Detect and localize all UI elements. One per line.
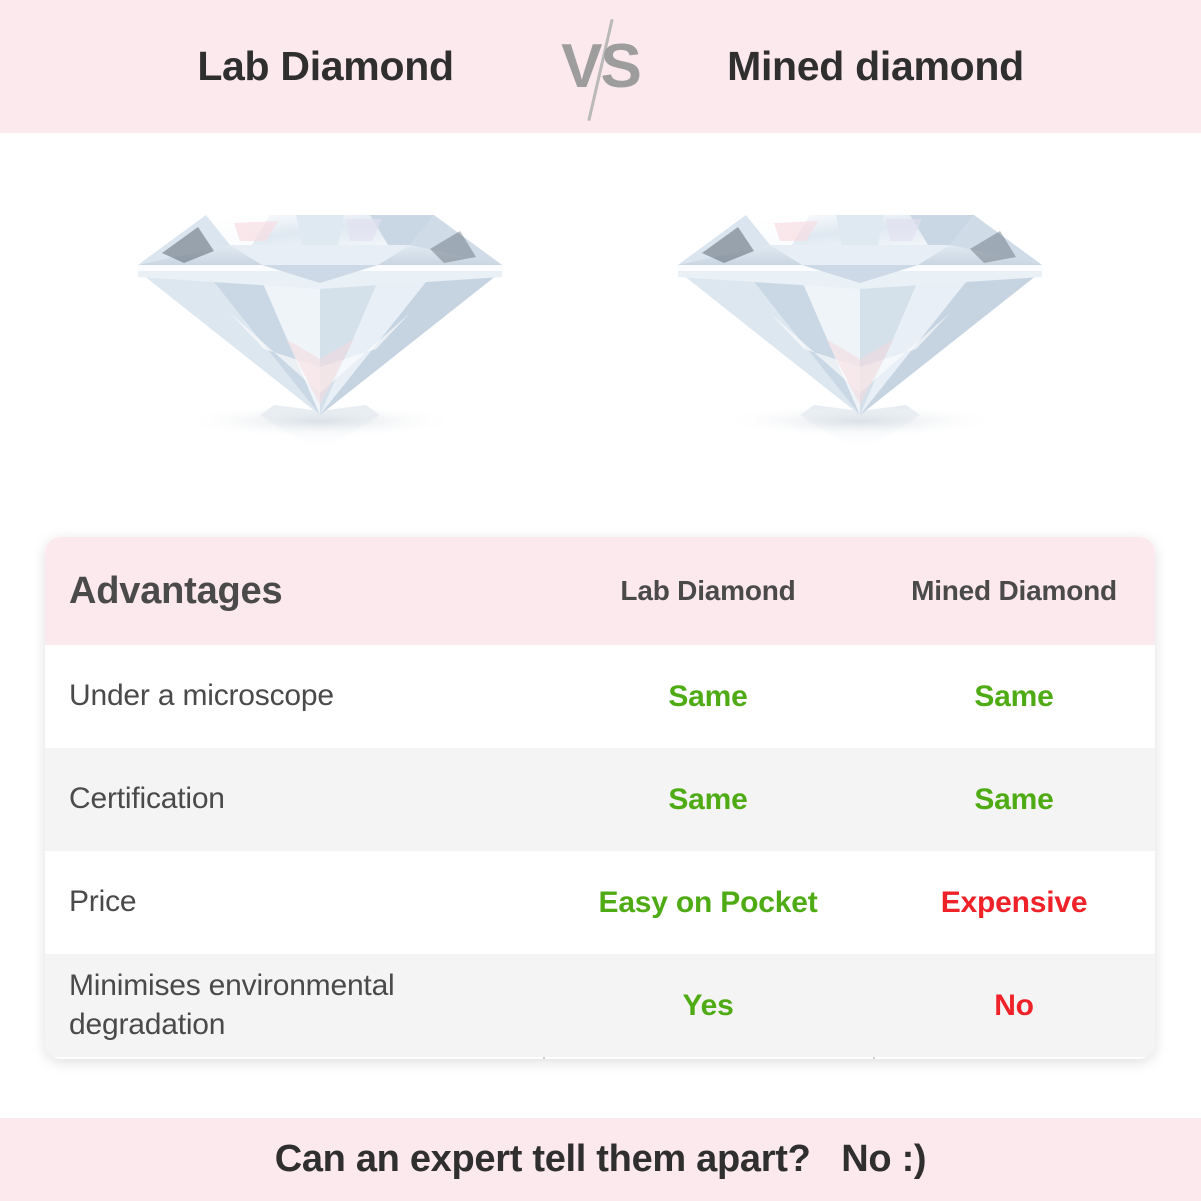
feature-cell: Price	[45, 851, 543, 954]
mined-value-cell: Same	[873, 645, 1155, 748]
mined-value: Same	[974, 680, 1053, 714]
comparison-table: Advantages Lab Diamond Mined Diamond Und…	[45, 537, 1155, 1059]
feature-cell: Certification	[45, 748, 543, 851]
table-row: Certification Same Same	[45, 748, 1155, 851]
feature-cell: Under a microscope	[45, 645, 543, 748]
header-title-mined: Mined diamond	[661, 43, 1091, 90]
diamond-image-area	[0, 133, 1201, 533]
footer-question: Can an expert tell them apart? No :)	[275, 1138, 927, 1181]
vs-label: VS	[541, 0, 661, 133]
header-title-lab: Lab Diamond	[111, 43, 541, 90]
footer-band: Can an expert tell them apart? No :)	[0, 1118, 1201, 1201]
header-cell-lab: Lab Diamond	[543, 537, 873, 645]
feature-label: Under a microscope	[69, 677, 334, 715]
mined-value-cell: Expensive	[873, 851, 1155, 954]
feature-label: Price	[69, 883, 136, 921]
lab-column-label: Lab Diamond	[620, 575, 795, 607]
lab-value-cell: Yes	[543, 954, 873, 1057]
lab-diamond-image	[110, 153, 530, 483]
table-header-row: Advantages Lab Diamond Mined Diamond	[45, 537, 1155, 645]
mined-value: No	[994, 989, 1034, 1023]
mined-value-cell: Same	[873, 748, 1155, 851]
mined-value-cell: No	[873, 954, 1155, 1057]
header-cell-advantages: Advantages	[45, 537, 543, 645]
lab-value: Same	[668, 783, 747, 817]
mined-value: Expensive	[941, 886, 1088, 920]
vs-divider: VS	[541, 0, 661, 133]
header-band: Lab Diamond VS Mined diamond	[0, 0, 1201, 133]
lab-value-cell: Same	[543, 748, 873, 851]
lab-value-cell: Easy on Pocket	[543, 851, 873, 954]
feature-label: Certification	[69, 780, 225, 818]
lab-value: Same	[668, 680, 747, 714]
feature-cell: Minimises environmental degradation	[45, 954, 543, 1057]
lab-value-cell: Same	[543, 645, 873, 748]
lab-value: Yes	[682, 989, 733, 1023]
table-row: Under a microscope Same Same	[45, 645, 1155, 748]
feature-label: Minimises environmental degradation	[69, 967, 543, 1044]
diamond-icon	[650, 153, 1070, 483]
advantages-label: Advantages	[69, 570, 282, 613]
header-cell-mined: Mined Diamond	[873, 537, 1155, 645]
mined-column-label: Mined Diamond	[911, 575, 1117, 607]
mined-diamond-image	[650, 153, 1070, 483]
diamond-icon	[110, 153, 530, 483]
mined-value: Same	[974, 783, 1053, 817]
table-row: Minimises environmental degradation Yes …	[45, 954, 1155, 1057]
table-row: Price Easy on Pocket Expensive	[45, 851, 1155, 954]
lab-value: Easy on Pocket	[599, 886, 818, 920]
